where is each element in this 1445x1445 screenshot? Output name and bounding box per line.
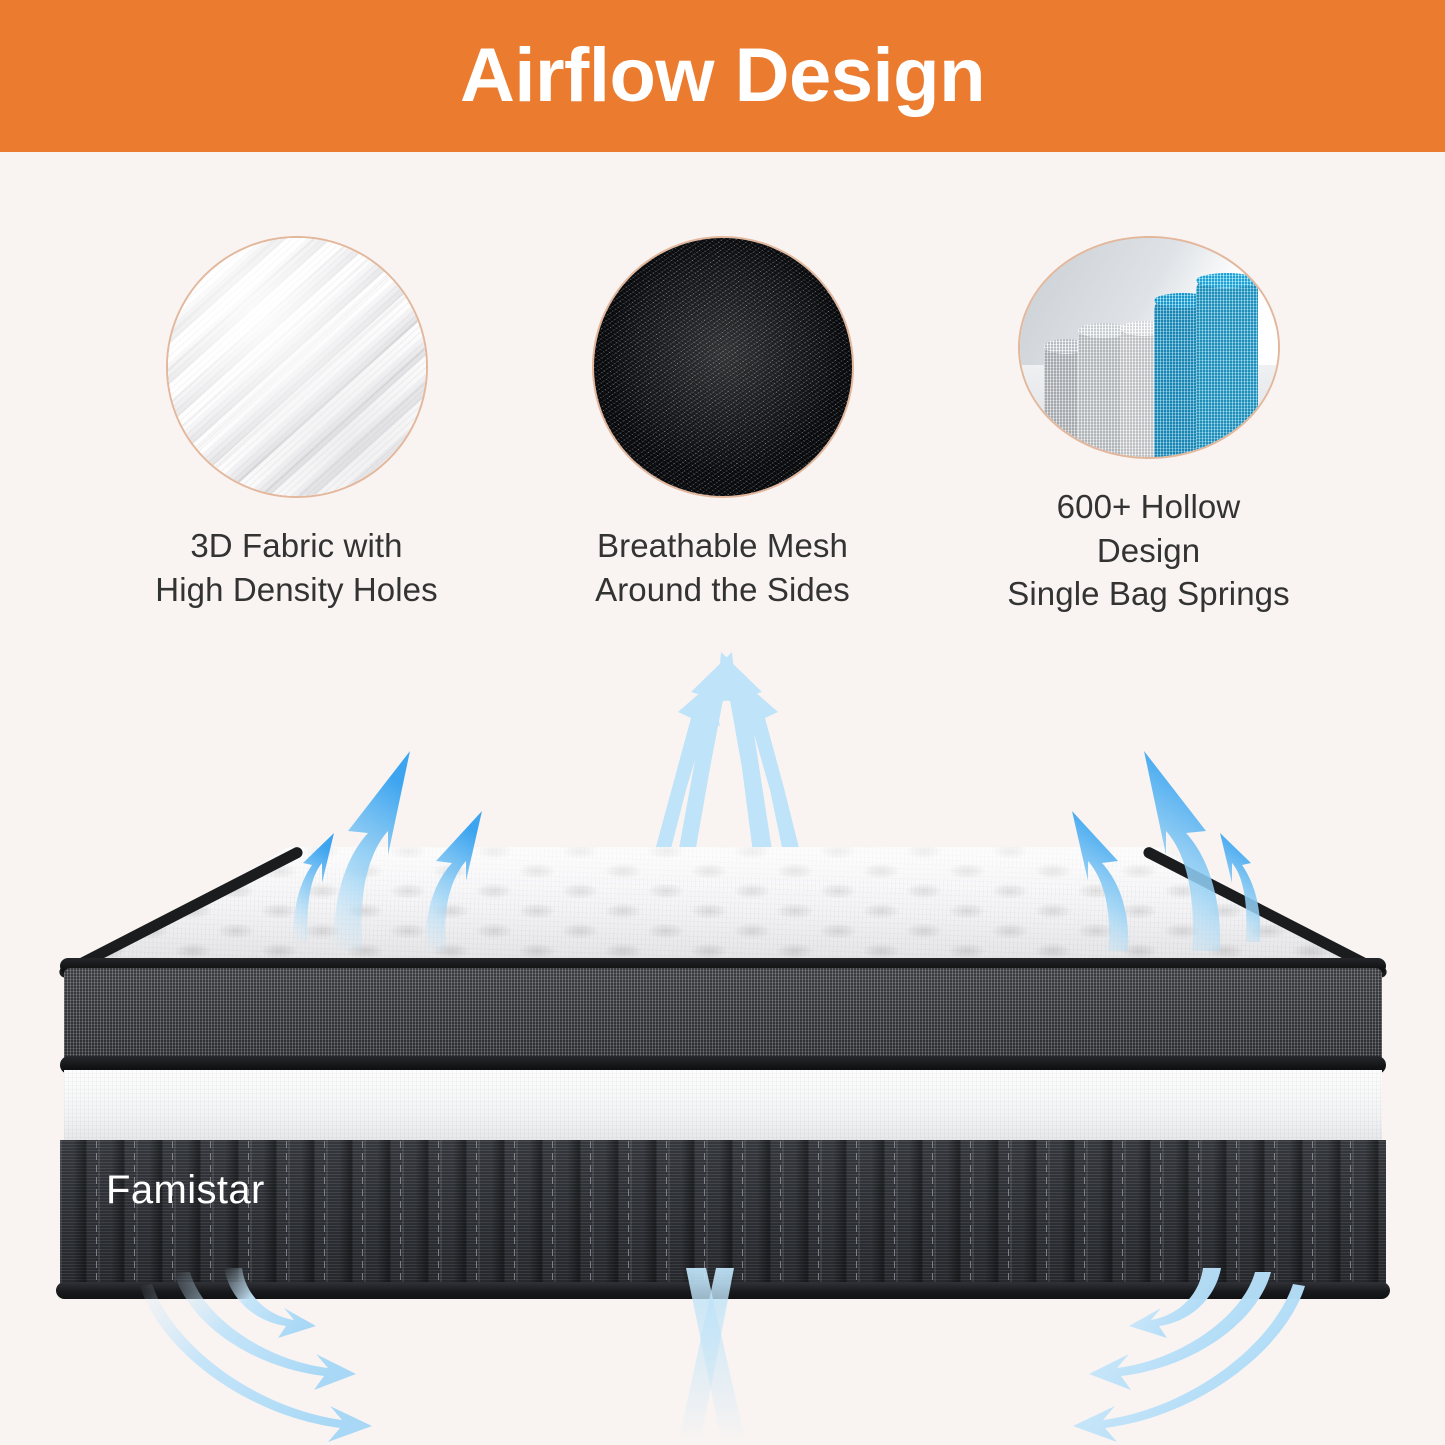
breathable-mesh-swatch-icon — [592, 236, 854, 498]
mesh-side-panel — [64, 968, 1382, 1064]
header-banner: Airflow Design — [0, 0, 1445, 152]
white-band-panel — [64, 1070, 1382, 1142]
feature-caption: 3D Fabric with High Density Holes — [155, 524, 437, 611]
feature-caption: Breathable Mesh Around the Sides — [595, 524, 850, 611]
infographic-page: Airflow Design 3D Fabric with High Densi… — [0, 0, 1445, 1445]
feature-caption: 600+ Hollow Design Single Bag Springs — [1004, 485, 1294, 616]
ribbed-base-panel — [60, 1140, 1386, 1292]
brand-logo-text: Famistar — [106, 1168, 265, 1213]
pocket-springs-swatch-icon — [1018, 236, 1280, 459]
piping-bottom — [56, 1282, 1390, 1299]
feature-breathable-mesh: Breathable Mesh Around the Sides — [578, 236, 868, 616]
feature-3d-fabric: 3D Fabric with High Density Holes — [152, 236, 442, 616]
feature-caption-line1: 3D Fabric with — [155, 524, 437, 568]
feature-caption-line1: 600+ Hollow Design — [1004, 485, 1294, 572]
feature-pocket-springs: 600+ Hollow Design Single Bag Springs — [1004, 236, 1294, 616]
quilted-3d-fabric-swatch-icon — [166, 236, 428, 498]
page-title: Airflow Design — [460, 38, 985, 114]
feature-row: 3D Fabric with High Density Holes Breath… — [0, 236, 1445, 616]
feature-caption-line1: Breathable Mesh — [595, 524, 850, 568]
mattress-product-image: Famistar — [0, 600, 1445, 1360]
